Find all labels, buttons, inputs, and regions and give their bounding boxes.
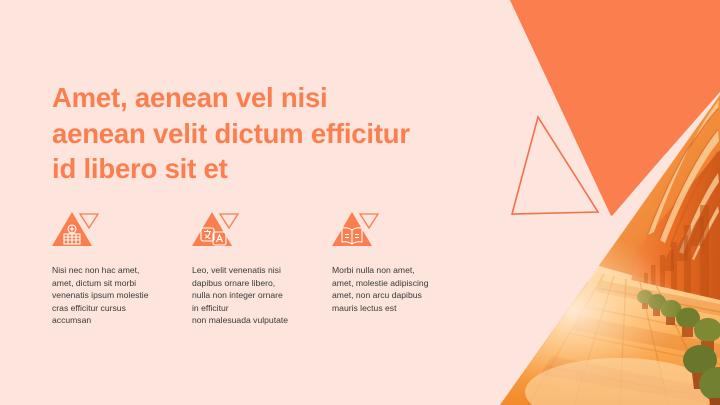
slide-title: Amet, aenean vel nisi aenean velit dictu… xyxy=(52,80,482,186)
feature-columns: Nisi nec non hac amet, amet, dictum sit … xyxy=(52,208,472,327)
feature-column: Nisi nec non hac amet, amet, dictum sit … xyxy=(52,208,192,327)
feature-text: Nisi nec non hac amet, amet, dictum sit … xyxy=(52,264,176,327)
bank-building-icon xyxy=(52,208,102,250)
feature-text: Morbi nulla non amet, amet, molestie adi… xyxy=(332,264,456,314)
feature-text: Leo, velit venenatis nisi dapibus ornare… xyxy=(192,264,316,327)
slide-artwork xyxy=(0,0,720,405)
slide-canvas: Amet, aenean vel nisi aenean velit dictu… xyxy=(0,0,720,405)
open-book-icon xyxy=(332,208,382,250)
feature-column: Leo, velit venenatis nisi dapibus ornare… xyxy=(192,208,332,327)
translate-language-icon xyxy=(192,208,242,250)
feature-column: Morbi nulla non amet, amet, molestie adi… xyxy=(332,208,472,327)
